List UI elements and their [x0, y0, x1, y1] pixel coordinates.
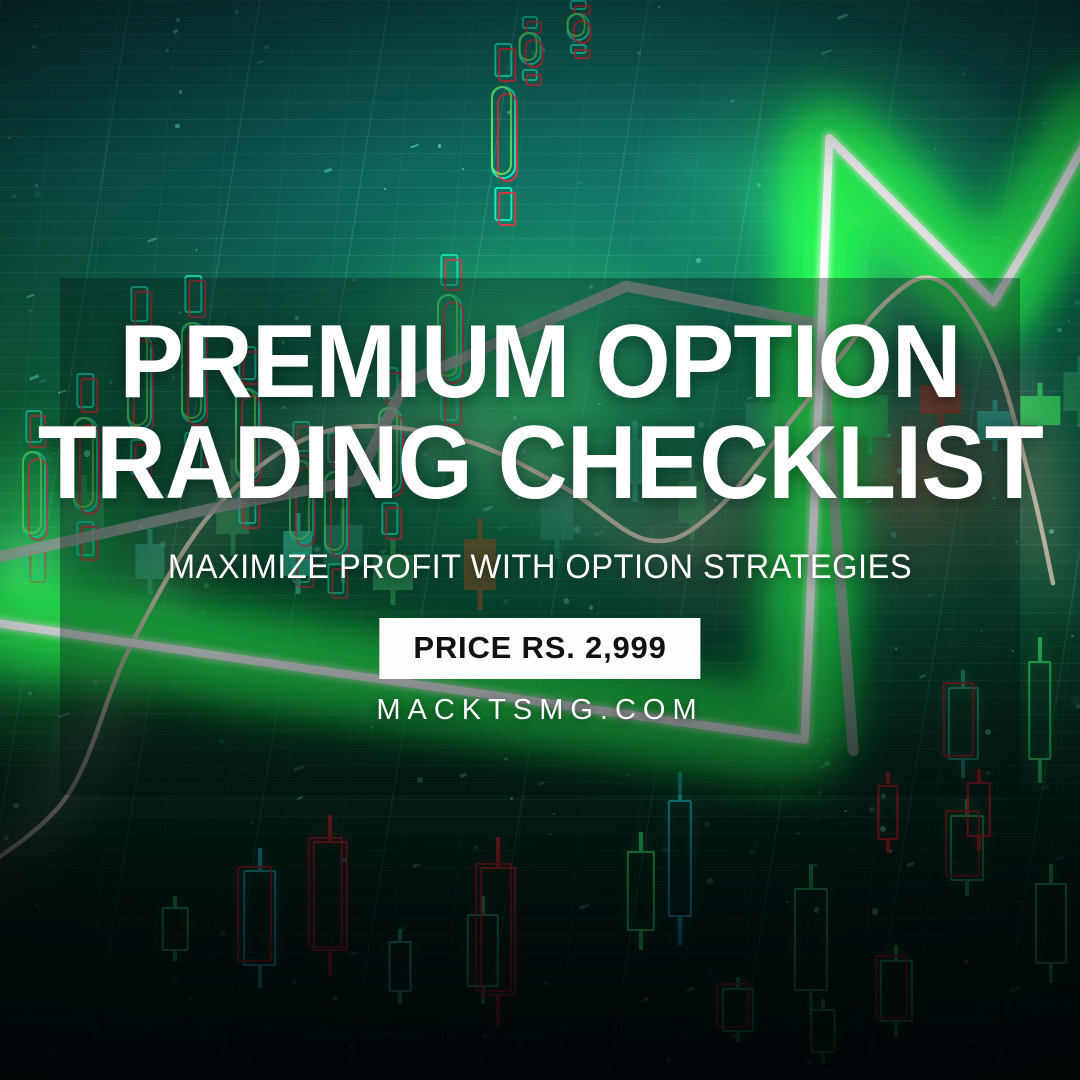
price-badge-label: PRICE RS. 2,999	[413, 630, 666, 665]
title-line-1: PREMIUM OPTION	[38, 312, 1042, 413]
site-url[interactable]: MACKTSMG.COM	[0, 694, 1080, 727]
subtitle: MAXIMIZE PROFIT WITH OPTION STRATEGIES	[22, 548, 1059, 587]
poster-canvas: PREMIUM OPTION TRADING CHECKLIST MAXIMIZ…	[0, 0, 1080, 1080]
title-line-2: TRADING CHECKLIST	[38, 413, 1042, 514]
price-badge: PRICE RS. 2,999	[379, 618, 700, 679]
page-title: PREMIUM OPTION TRADING CHECKLIST	[0, 312, 1080, 514]
poster-content: PREMIUM OPTION TRADING CHECKLIST MAXIMIZ…	[0, 0, 1080, 1080]
